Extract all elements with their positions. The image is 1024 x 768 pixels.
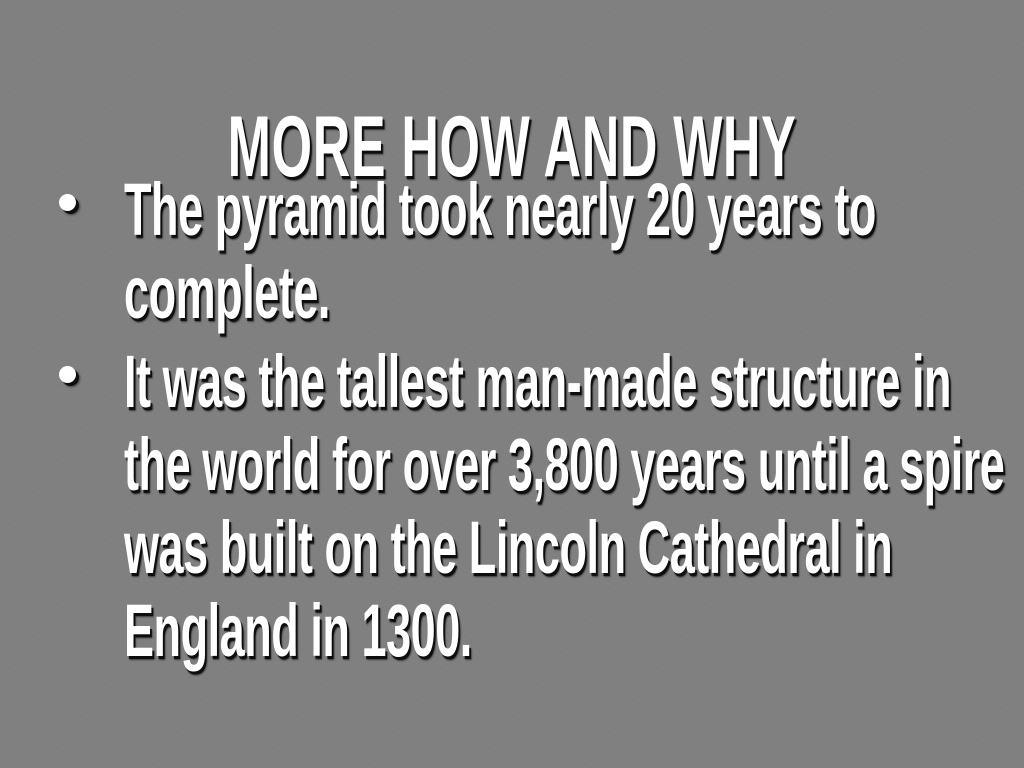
bullet-line-text: The pyramid took nearly 20 years to — [124, 173, 876, 247]
bullet-line: The pyramid took nearly 20 years to — [124, 168, 1024, 251]
bullet-line: complete. — [124, 251, 1024, 334]
bullet-item: It was the tallest man-made structure in… — [0, 340, 1024, 672]
presentation-slide: MORE HOW AND WHY The pyramid took nearly… — [0, 0, 1024, 768]
bullet-line: the world for over 3,800 years until a s… — [124, 423, 1024, 506]
slide-body: The pyramid took nearly 20 years to comp… — [0, 168, 1024, 678]
bullet-line: England in 1300. — [124, 589, 1024, 672]
bullet-text: It was the tallest man-made structure in… — [124, 340, 1024, 672]
bullet-line: It was the tallest man-made structure in — [124, 340, 1024, 423]
bullet-line-text: was built on the Lincoln Cathedral in — [124, 511, 892, 585]
bullet-circle-icon — [59, 194, 76, 211]
bullet-line-text: It was the tallest man-made structure in — [124, 345, 951, 419]
bullet-item: The pyramid took nearly 20 years to comp… — [0, 168, 1024, 334]
bullet-circle-icon — [59, 366, 76, 383]
bullet-line-text: the world for over 3,800 years until a s… — [124, 428, 1004, 502]
bullet-text: The pyramid took nearly 20 years to comp… — [124, 168, 1024, 334]
bullet-line: was built on the Lincoln Cathedral in — [124, 506, 1024, 589]
bullet-line-text: complete. — [124, 256, 330, 330]
bullet-line-text: England in 1300. — [124, 594, 472, 668]
